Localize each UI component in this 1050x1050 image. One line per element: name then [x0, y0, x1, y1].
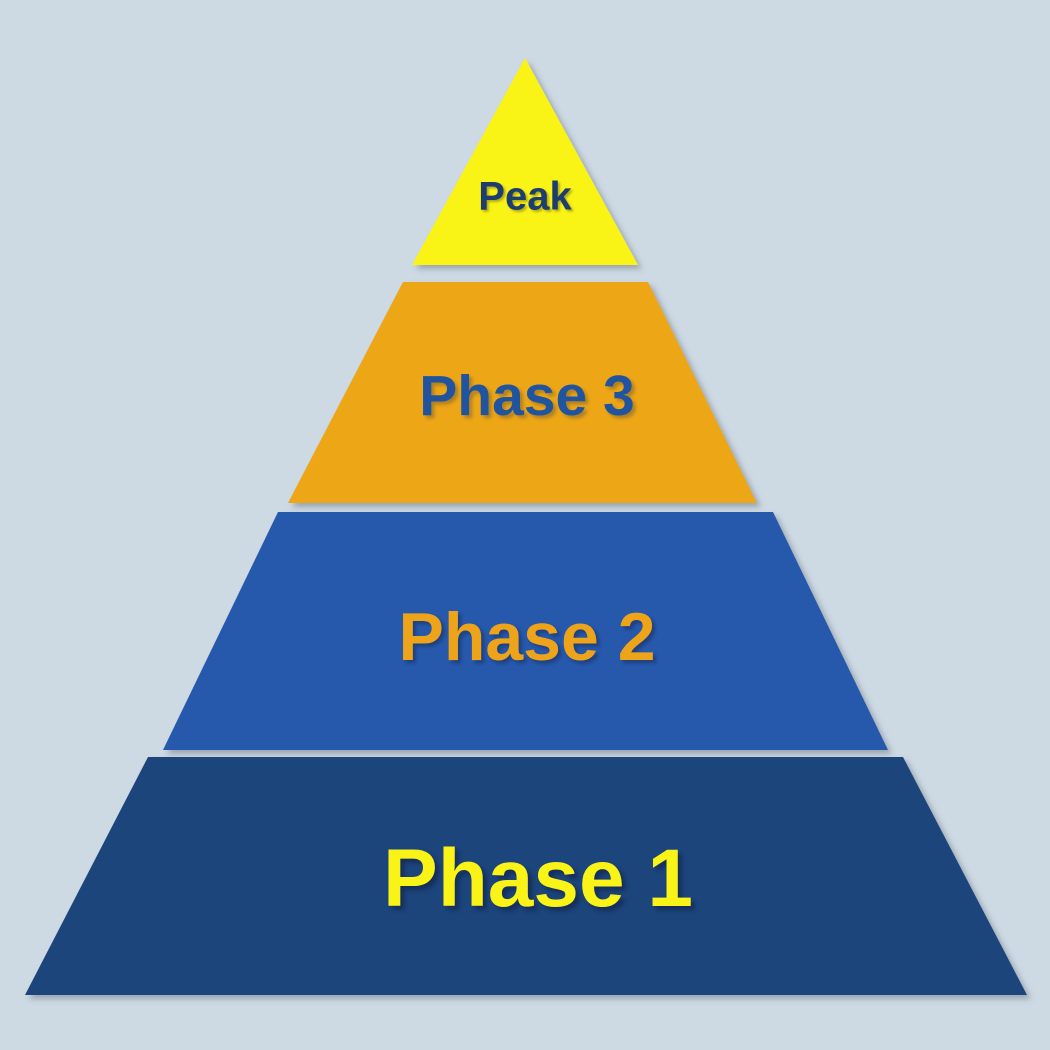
pyramid-shapes: [0, 0, 1050, 1050]
pyramid-tier-phase-1[interactable]: [25, 757, 1027, 995]
pyramid-tier-phase-2[interactable]: [163, 512, 888, 750]
pyramid-diagram: Peak Phase 3 Phase 2 Phase 1: [0, 0, 1050, 1050]
